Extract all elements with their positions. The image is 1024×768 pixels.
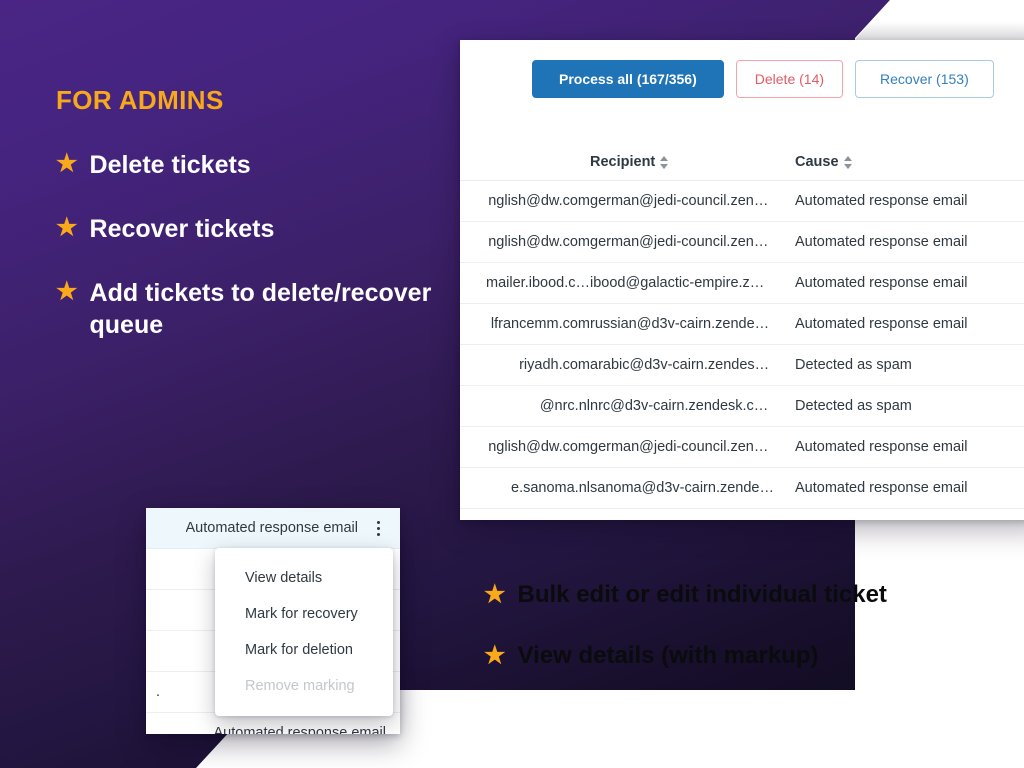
cell-sender: nglish@dw.com: [460, 234, 590, 250]
table-row[interactable]: @nrc.nl nrc@d3v-cairn.zendesk.c… Detecte…: [460, 386, 1024, 427]
feature-bullet-label: Add tickets to delete/recover queue: [90, 277, 436, 341]
cell-sender: lfrancemm.com: [460, 316, 590, 332]
cell-cause: Automated response email: [795, 275, 1024, 291]
cell-cause: Detected as spam: [795, 357, 1024, 373]
bulk-edit-section: ★ Bulk edit or edit individual ticket ★ …: [484, 580, 1004, 701]
cell-cause: Detected as spam: [795, 398, 1024, 414]
cell-recipient: ibood@galactic-empire.z…: [590, 275, 795, 291]
star-icon: ★: [56, 213, 78, 243]
feature-bullet-label: Bulk edit or edit individual ticket: [518, 580, 1004, 611]
cell-cause: Automated response email: [795, 193, 1024, 209]
cell-cause: Automated response email: [795, 234, 1024, 250]
table-row[interactable]: nglish@dw.com german@jedi-council.zen… A…: [460, 222, 1024, 263]
list-item[interactable]: Automated response email: [146, 713, 400, 734]
table-toolbar: Process all (167/356) Delete (14) Recove…: [460, 40, 1024, 98]
cell-sender: riyadh.com: [460, 357, 590, 373]
table-row[interactable]: lfrancemm.com russian@d3v-cairn.zende… A…: [460, 304, 1024, 345]
for-admins-section: FOR ADMINS ★ Delete tickets ★ Recover ti…: [56, 86, 436, 373]
cell-cause: Automated response email: [214, 725, 387, 734]
cell-recipient: german@jedi-council.zen…: [590, 193, 795, 209]
cell-recipient: nrc@d3v-cairn.zendesk.c…: [590, 398, 795, 414]
page-title: FOR ADMINS: [56, 86, 436, 115]
cell-cause: Automated response email: [795, 480, 1024, 496]
feature-bullet-recover-tickets: ★ Recover tickets: [56, 213, 436, 245]
feature-bullet-label: Recover tickets: [90, 213, 436, 245]
row-lead-marker: .: [156, 684, 160, 700]
feature-bullet-view-details: ★ View details (with markup): [484, 641, 1004, 672]
table-header-row: Recipient Cause: [460, 98, 1024, 181]
table-row[interactable]: nglish@dw.com german@jedi-council.zen… A…: [460, 181, 1024, 222]
cell-recipient: russian@d3v-cairn.zende…: [590, 316, 795, 332]
recover-button[interactable]: Recover (153): [855, 60, 994, 98]
sort-icon[interactable]: [660, 156, 669, 169]
table-row[interactable]: @elsevierwee… nsm@d3v-cairn.zendesk.… Au…: [460, 509, 1024, 520]
sort-icon[interactable]: [844, 156, 853, 169]
ticket-table-card: Process all (167/356) Delete (14) Recove…: [460, 40, 1024, 520]
star-icon: ★: [56, 149, 78, 179]
feature-bullet-label: Delete tickets: [90, 149, 436, 181]
cell-cause: Automated response email: [795, 439, 1024, 455]
menu-item-mark-for-recovery[interactable]: Mark for recovery: [215, 596, 393, 632]
cell-sender: nglish@dw.com: [460, 193, 590, 209]
star-icon: ★: [484, 580, 506, 610]
column-header-recipient-label: Recipient: [590, 154, 655, 170]
cell-sender: @nrc.nl: [460, 398, 590, 414]
cell-cause: Automated response email: [186, 520, 359, 536]
cell-cause: Automated response email: [795, 316, 1024, 332]
slide-canvas: FOR ADMINS ★ Delete tickets ★ Recover ti…: [0, 0, 1024, 768]
kebab-menu-icon[interactable]: [370, 521, 386, 536]
cell-recipient: sanoma@d3v-cairn.zende…: [590, 480, 795, 496]
table-row[interactable]: nglish@dw.com german@jedi-council.zen… A…: [460, 427, 1024, 468]
cell-sender: nglish@dw.com: [460, 439, 590, 455]
menu-item-view-details[interactable]: View details: [215, 560, 393, 596]
feature-bullet-label: View details (with markup): [518, 641, 1004, 672]
feature-bullet-add-tickets-to-queue: ★ Add tickets to delete/recover queue: [56, 277, 436, 341]
cell-recipient: german@jedi-council.zen…: [590, 234, 795, 250]
cell-sender: mailer.ibood.c…: [460, 275, 590, 291]
column-header-cause[interactable]: Cause: [795, 154, 1024, 170]
ticket-table: Recipient Cause nglish@dw.com german@jed…: [460, 98, 1024, 520]
star-icon: ★: [484, 641, 506, 671]
list-item[interactable]: Automated response email: [146, 508, 400, 549]
menu-item-remove-marking: Remove marking: [215, 668, 393, 704]
cell-recipient: arabic@d3v-cairn.zendes…: [590, 357, 795, 373]
process-all-button[interactable]: Process all (167/356): [532, 60, 724, 98]
star-icon: ★: [56, 277, 78, 307]
row-actions-dropdown: View details Mark for recovery Mark for …: [215, 548, 393, 716]
table-row[interactable]: mailer.ibood.c… ibood@galactic-empire.z……: [460, 263, 1024, 304]
table-row[interactable]: e.sanoma.nl sanoma@d3v-cairn.zende… Auto…: [460, 468, 1024, 509]
menu-item-mark-for-deletion[interactable]: Mark for deletion: [215, 632, 393, 668]
table-row[interactable]: riyadh.com arabic@d3v-cairn.zendes… Dete…: [460, 345, 1024, 386]
feature-bullet-delete-tickets: ★ Delete tickets: [56, 149, 436, 181]
column-header-recipient[interactable]: Recipient: [590, 154, 795, 170]
column-header-cause-label: Cause: [795, 154, 839, 170]
cell-sender: e.sanoma.nl: [460, 480, 590, 496]
cell-recipient: german@jedi-council.zen…: [590, 439, 795, 455]
feature-bullet-bulk-edit: ★ Bulk edit or edit individual ticket: [484, 580, 1004, 611]
delete-button[interactable]: Delete (14): [736, 60, 843, 98]
